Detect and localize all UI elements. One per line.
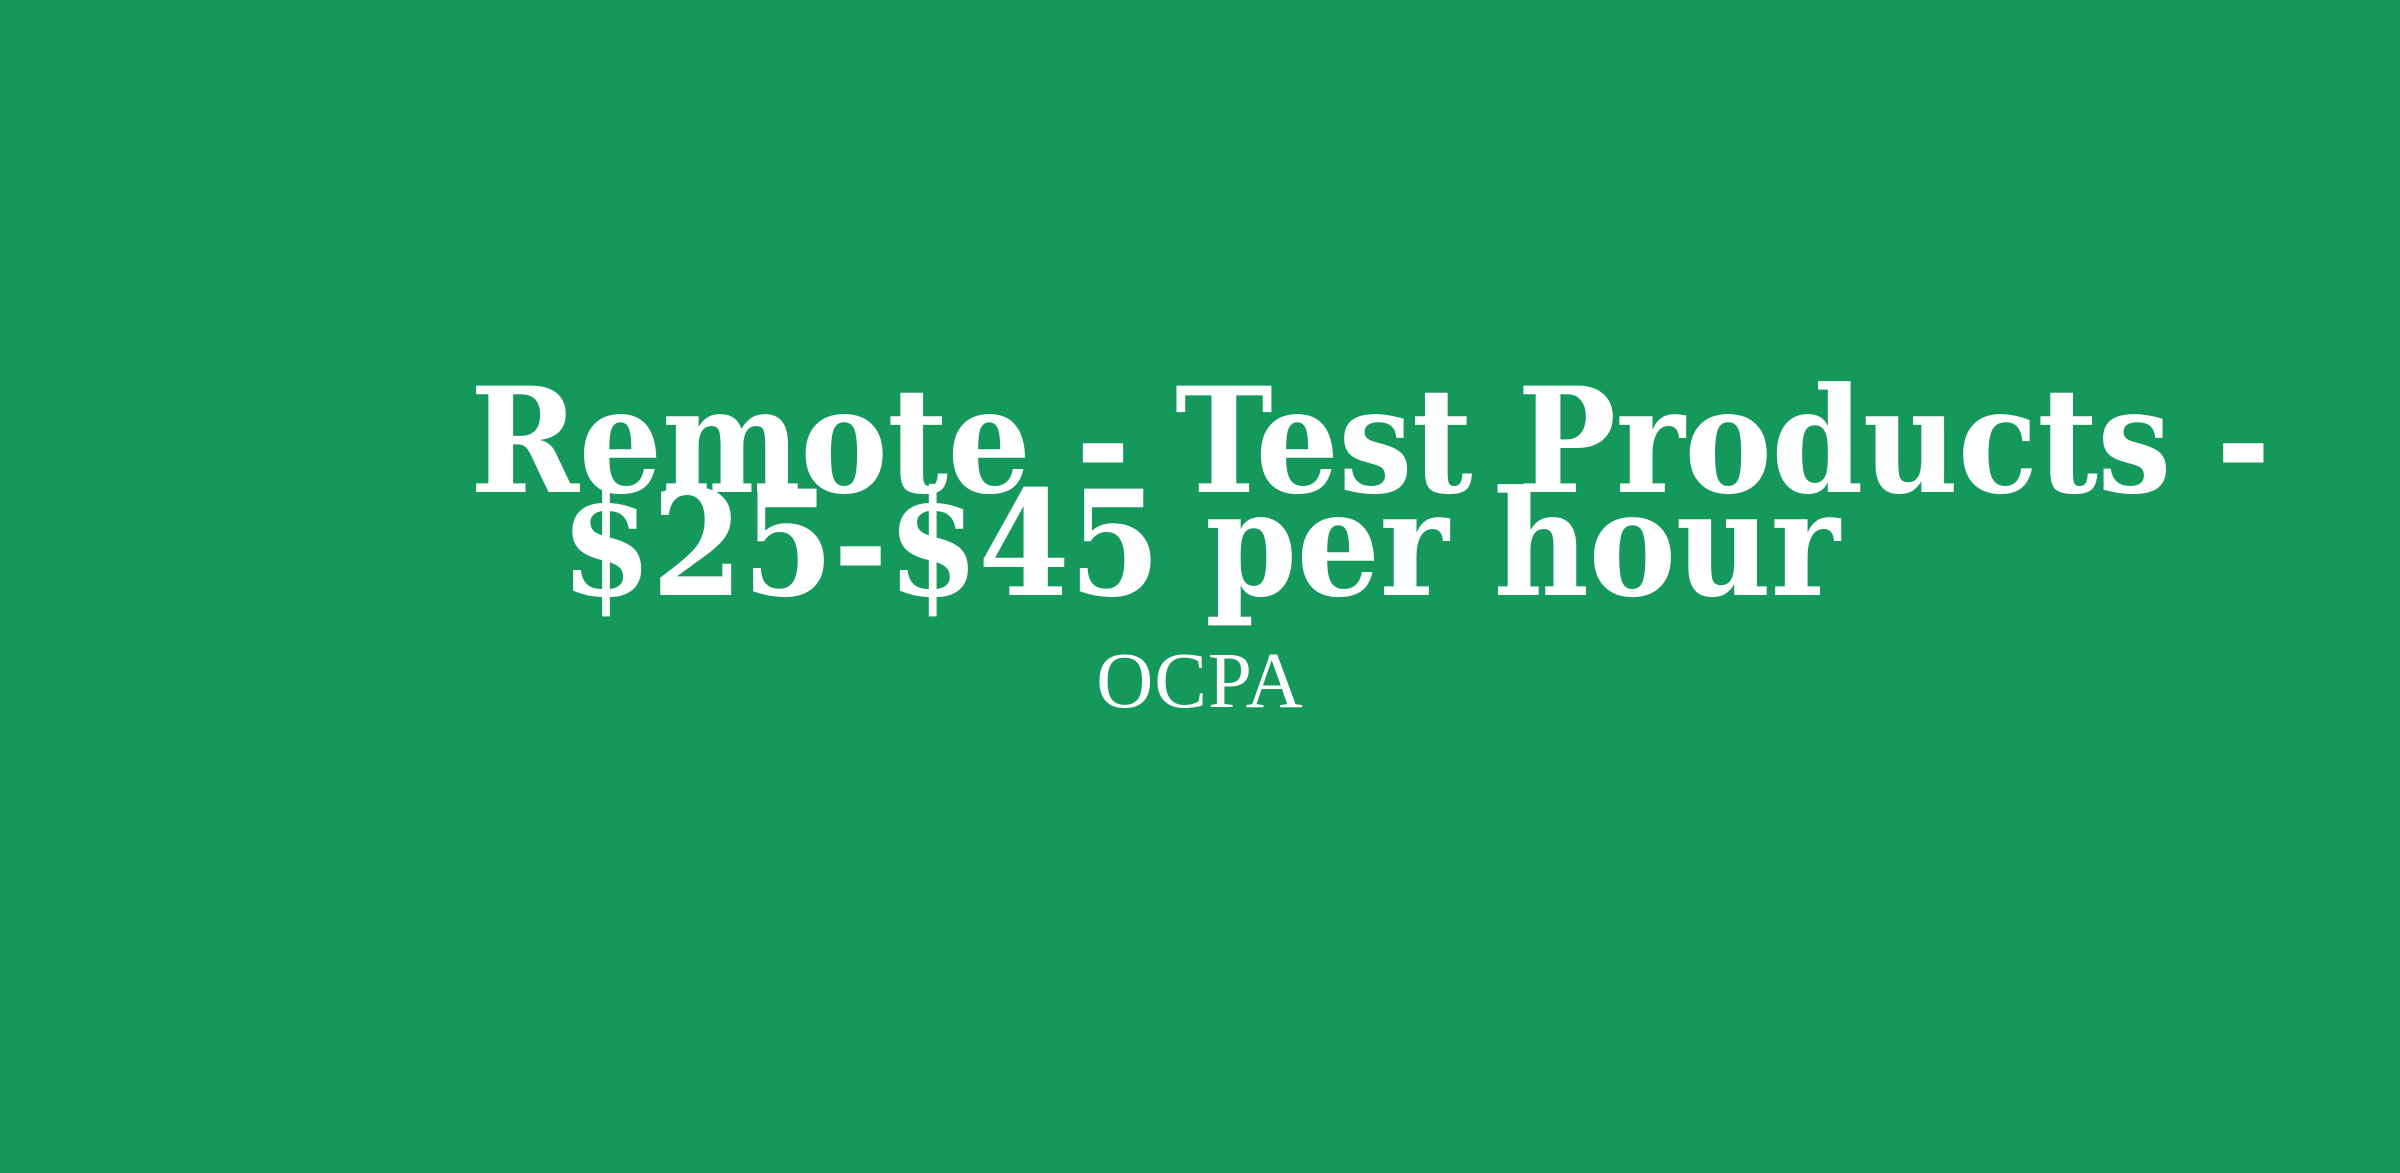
page-title: Remote - Test Products - $25-$45 per hou…: [470, 390, 1930, 596]
hero-banner: Remote - Test Products - $25-$45 per hou…: [0, 0, 2400, 1173]
page-subtitle: OCPA: [0, 642, 2400, 721]
page-title-line-2: $25-$45 per hour: [470, 493, 1930, 596]
hero-content: Remote - Test Products - $25-$45 per hou…: [0, 390, 2400, 721]
